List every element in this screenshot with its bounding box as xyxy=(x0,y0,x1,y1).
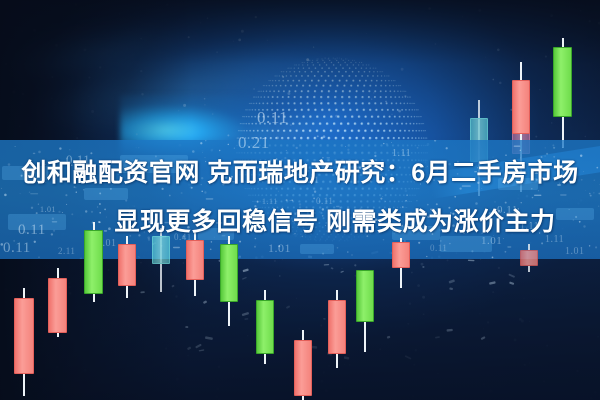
candle-body xyxy=(220,244,238,302)
candlestick-up xyxy=(256,290,274,364)
candle-body xyxy=(294,340,312,396)
banner-image: 1.113.110.111.010.110.111.012.111.110.11… xyxy=(0,0,600,400)
headline-line-1: 创和融配资官网 克而瑞地产研究：6月二手房市场 xyxy=(0,149,600,198)
candle-body xyxy=(118,244,136,286)
candlestick-up xyxy=(220,236,238,326)
candle-body xyxy=(553,47,572,117)
candle-body xyxy=(520,250,538,266)
candle-body xyxy=(512,80,530,134)
candlestick-down xyxy=(294,330,312,400)
candlestick-down xyxy=(328,290,346,368)
ghost-number: 1.01 xyxy=(565,246,585,257)
headline-text: 创和融配资官网 克而瑞地产研究：6月二手房市场 显现更多回稳信号 刚需类成为涨价… xyxy=(0,149,600,247)
candle-body xyxy=(256,300,274,354)
ghost-number: 0.11 xyxy=(257,108,288,128)
ghost-number: 2.11 xyxy=(58,246,75,256)
candle-body xyxy=(356,270,374,322)
candlestick-down xyxy=(520,244,538,272)
candlestick-up xyxy=(356,292,374,352)
headline-line-2: 显现更多回稳信号 刚需类成为涨价主力 xyxy=(0,198,600,247)
candle-body xyxy=(48,278,67,333)
candlestick-up xyxy=(553,38,572,148)
candlestick-down xyxy=(14,288,34,396)
candle-body xyxy=(14,298,34,374)
candlestick-down xyxy=(48,268,67,337)
candle-body xyxy=(328,300,346,354)
